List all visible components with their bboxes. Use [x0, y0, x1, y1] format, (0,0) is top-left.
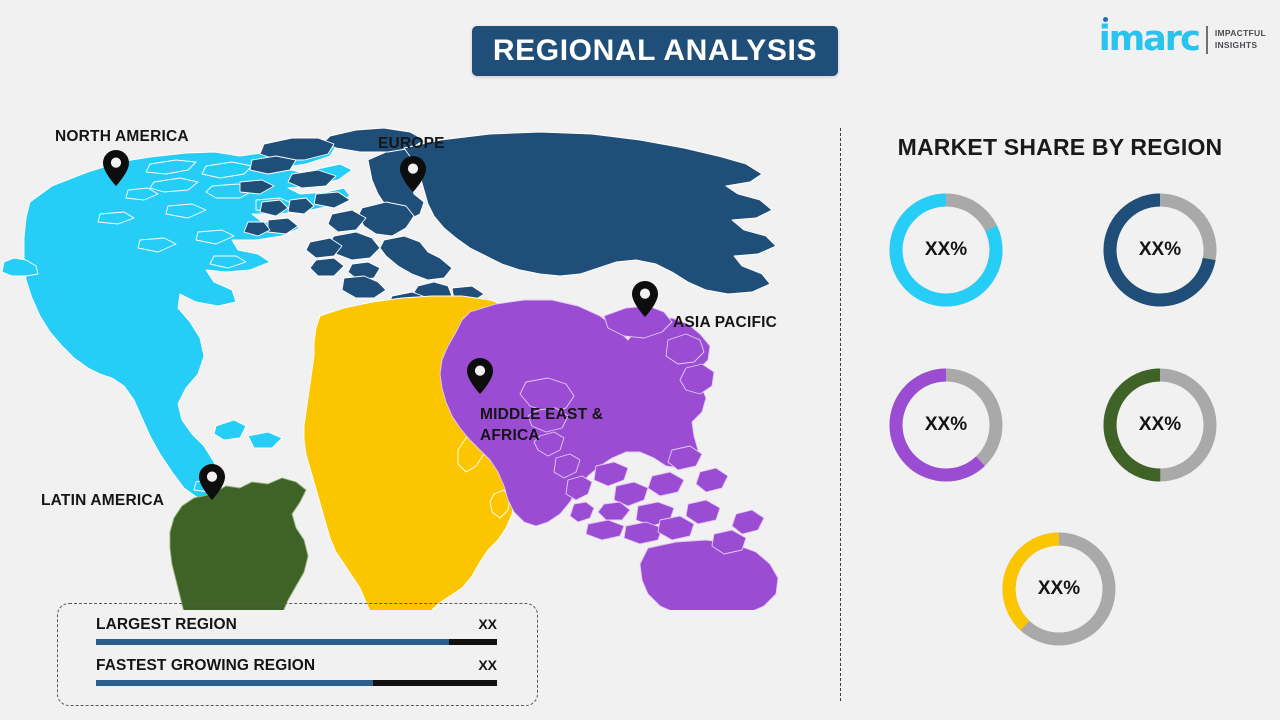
map-region-latin-america[interactable] [170, 478, 308, 610]
logo-tagline-line2: INSIGHTS [1215, 40, 1258, 50]
donut-percent-label: XX% [882, 186, 1010, 314]
legend-progress-track [96, 639, 497, 645]
map-label-text: MIDDLE EAST & [480, 406, 603, 423]
world-map-area: NORTH AMERICAEUROPEASIA PACIFICMIDDLE EA… [0, 90, 830, 610]
logo-wordmark-text: imarc [1099, 19, 1199, 59]
legend-row-value: XX [478, 616, 497, 632]
map-label-latin-america: LATIN AMERICA [41, 491, 164, 512]
map-label-text: LATIN AMERICA [41, 492, 164, 509]
map-label-north-america: NORTH AMERICA [55, 127, 189, 148]
donut-chart-latin-america[interactable]: XX% [1096, 361, 1224, 489]
infographic-page: REGIONAL ANALYSIS imarc IMPACTFUL INSIGH… [0, 0, 1280, 720]
map-label-middle-east: MIDDLE EAST &AFRICA [480, 405, 603, 447]
map-pin-icon[interactable] [632, 281, 658, 317]
legend-row: FASTEST GROWING REGIONXX [96, 657, 497, 686]
page-title-banner: REGIONAL ANALYSIS [472, 26, 838, 76]
logo-tagline-line1: IMPACTFUL [1215, 28, 1266, 38]
map-label-text: ASIA PACIFIC [673, 314, 777, 331]
logo-wordmark: imarc [1099, 22, 1199, 57]
map-pin-icon[interactable] [103, 150, 129, 186]
donut-percent-label: XX% [995, 525, 1123, 653]
donut-percent-label: XX% [882, 361, 1010, 489]
map-label-text: EUROPE [378, 135, 445, 152]
legend-progress-fill [96, 680, 373, 686]
legend-row-label: FASTEST GROWING REGION [96, 657, 315, 675]
legend-progress-track [96, 680, 497, 686]
donut-chart-europe[interactable]: XX% [1096, 186, 1224, 314]
panel-divider [840, 128, 841, 701]
map-label-europe: EUROPE [378, 134, 445, 155]
map-label-text: NORTH AMERICA [55, 128, 189, 145]
map-label-asia-pacific: ASIA PACIFIC [673, 313, 777, 334]
donut-chart-north-america[interactable]: XX% [882, 186, 1010, 314]
logo-divider [1206, 26, 1208, 54]
logo-dot-icon [1103, 17, 1108, 22]
map-pin-icon[interactable] [199, 464, 225, 500]
donut-percent-label: XX% [1096, 361, 1224, 489]
donut-chart-middle-east-africa[interactable]: XX% [995, 525, 1123, 653]
legend-row: LARGEST REGIONXX [96, 616, 497, 645]
legend-row-label: LARGEST REGION [96, 616, 237, 634]
logo-tagline: IMPACTFUL INSIGHTS [1215, 28, 1266, 51]
map-region-asia-pacific[interactable] [440, 300, 794, 610]
region-legend-box: LARGEST REGIONXXFASTEST GROWING REGIONXX [57, 603, 538, 706]
donut-chart-asia-pacific[interactable]: XX% [882, 361, 1010, 489]
donut-percent-label: XX% [1096, 186, 1224, 314]
map-region-north-america[interactable] [2, 142, 352, 498]
market-share-title: MARKET SHARE BY REGION [845, 134, 1275, 161]
imarc-logo: imarc IMPACTFUL INSIGHTS [1099, 22, 1266, 57]
map-pin-icon[interactable] [400, 156, 426, 192]
map-label-text-line2: AFRICA [480, 427, 540, 444]
legend-row-value: XX [478, 657, 497, 673]
page-title: REGIONAL ANALYSIS [493, 34, 817, 68]
legend-progress-fill [96, 639, 449, 645]
map-pin-icon[interactable] [467, 358, 493, 394]
